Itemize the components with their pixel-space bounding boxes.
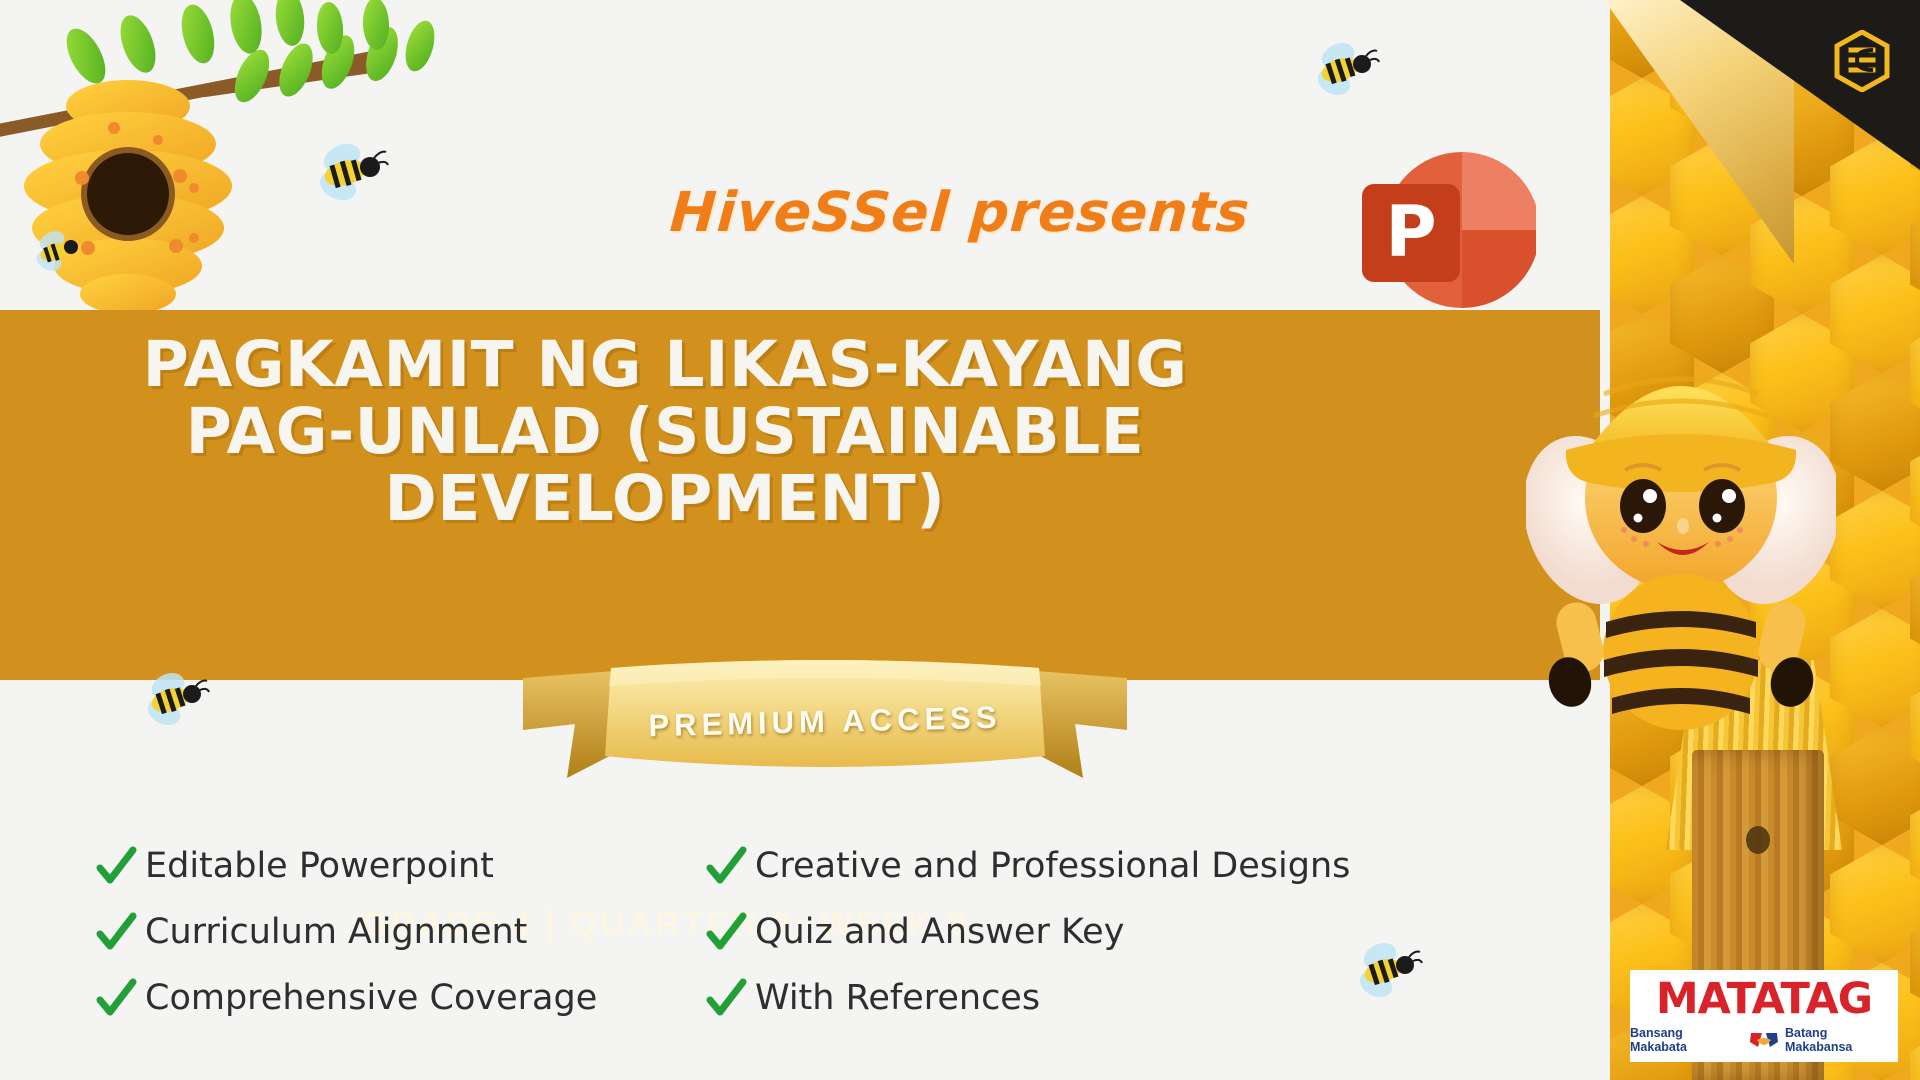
feature-label: Comprehensive Coverage <box>145 978 597 1018</box>
list-item: Curriculum Alignment <box>95 911 655 953</box>
feature-label: With References <box>755 978 1040 1018</box>
check-icon <box>95 977 137 1019</box>
feature-label: Quiz and Answer Key <box>755 912 1124 952</box>
feature-column-right: Creative and Professional Designs Quiz a… <box>705 845 1425 1019</box>
matatag-taglines: Bansang Makabata Batang Makabansa <box>1630 1026 1898 1054</box>
feature-label: Editable Powerpoint <box>145 846 494 886</box>
hero-title-line-1: PAGKAMIT NG LIKAS-KAYANG <box>60 332 1270 399</box>
feature-column-left: Editable Powerpoint Curriculum Alignment… <box>95 845 655 1019</box>
feature-list: Editable Powerpoint Curriculum Alignment… <box>95 845 1475 1019</box>
list-item: With References <box>705 977 1425 1019</box>
matatag-logo: MATATAG Bansang Makabata Batang Makabans… <box>1630 970 1898 1062</box>
hexagon-hive-logo-icon <box>1834 30 1890 92</box>
feature-label: Curriculum Alignment <box>145 912 527 952</box>
bee-icon <box>1352 940 1424 1002</box>
check-icon <box>95 845 137 887</box>
check-icon <box>95 911 137 953</box>
hero-title-line-3: DEVELOPMENT) <box>60 466 1270 533</box>
premium-access-ribbon: PREMIUM ACCESS <box>515 660 1135 795</box>
hero-title-line-2: PAG-UNLAD (SUSTAINABLE <box>60 399 1270 466</box>
check-icon <box>705 977 747 1019</box>
hero-title: PAGKAMIT NG LIKAS-KAYANG PAG-UNLAD (SUST… <box>60 332 1270 532</box>
list-item: Creative and Professional Designs <box>705 845 1425 887</box>
list-item: Quiz and Answer Key <box>705 911 1425 953</box>
check-icon <box>705 845 747 887</box>
bee-icon <box>1310 40 1380 100</box>
check-icon <box>705 911 747 953</box>
title-band: PAGKAMIT NG LIKAS-KAYANG PAG-UNLAD (SUST… <box>0 310 1600 680</box>
bee-mascot-icon <box>1526 330 1836 750</box>
list-item: Editable Powerpoint <box>95 845 655 887</box>
matatag-tagline-right: Batang Makabansa <box>1785 1026 1898 1054</box>
list-item: Comprehensive Coverage <box>95 977 655 1019</box>
matatag-tagline-left: Bansang Makabata <box>1630 1026 1743 1054</box>
matatag-wordmark: MATATAG <box>1656 978 1872 1021</box>
feature-label: Creative and Professional Designs <box>755 846 1350 886</box>
handshake-icon <box>1749 1028 1779 1052</box>
bee-icon <box>312 140 390 206</box>
poster-canvas: P HiveSSel presents PAGKAMIT NG LIKAS-KA… <box>0 0 1920 1080</box>
page-title: HiveSSel presents <box>0 180 1920 244</box>
bee-icon <box>30 228 84 276</box>
bee-icon <box>140 670 210 730</box>
